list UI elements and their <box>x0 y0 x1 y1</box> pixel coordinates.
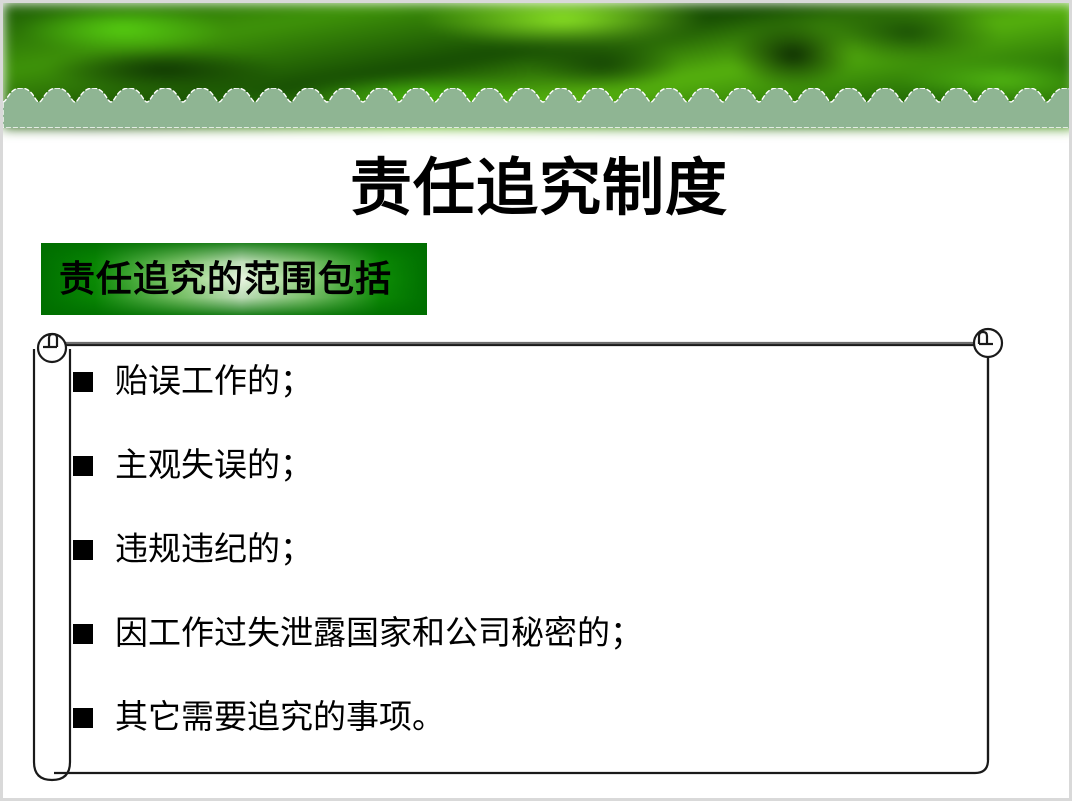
subtitle-text: 责任追究的范围包括 <box>59 259 392 299</box>
list-item-text: 贻误工作的； <box>115 362 313 402</box>
list-item-text: 主观失误的； <box>115 446 313 486</box>
square-bullet-icon <box>73 540 93 560</box>
list-item-text: 其它需要追究的事项。 <box>115 698 445 738</box>
list-item: 贻误工作的； <box>73 361 973 403</box>
list-item-text: 因工作过失泄露国家和公司秘密的； <box>115 614 643 654</box>
subtitle-banner-plate: 责任追究的范围包括 <box>41 243 427 315</box>
list-item: 违规违纪的； <box>73 529 973 571</box>
square-bullet-icon <box>73 372 93 392</box>
square-bullet-icon <box>73 456 93 476</box>
scalloped-wave-divider <box>3 88 1072 128</box>
list-item: 主观失误的； <box>73 445 973 487</box>
list-item: 其它需要追究的事项。 <box>73 697 973 739</box>
bullet-list: 贻误工作的； 主观失误的； 违规违纪的； 因工作过失泄露国家和公司秘密的； 其它… <box>73 361 973 739</box>
slide-header-banner <box>3 3 1072 128</box>
square-bullet-icon <box>73 708 93 728</box>
presentation-slide: 责任追究制度 责任追究的范围包括 贻误工作的； 主观失误的； <box>0 0 1072 801</box>
list-item: 因工作过失泄露国家和公司秘密的； <box>73 613 973 655</box>
list-item-text: 违规违纪的； <box>115 530 313 570</box>
square-bullet-icon <box>73 624 93 644</box>
slide-title: 责任追究制度 <box>3 151 1072 227</box>
